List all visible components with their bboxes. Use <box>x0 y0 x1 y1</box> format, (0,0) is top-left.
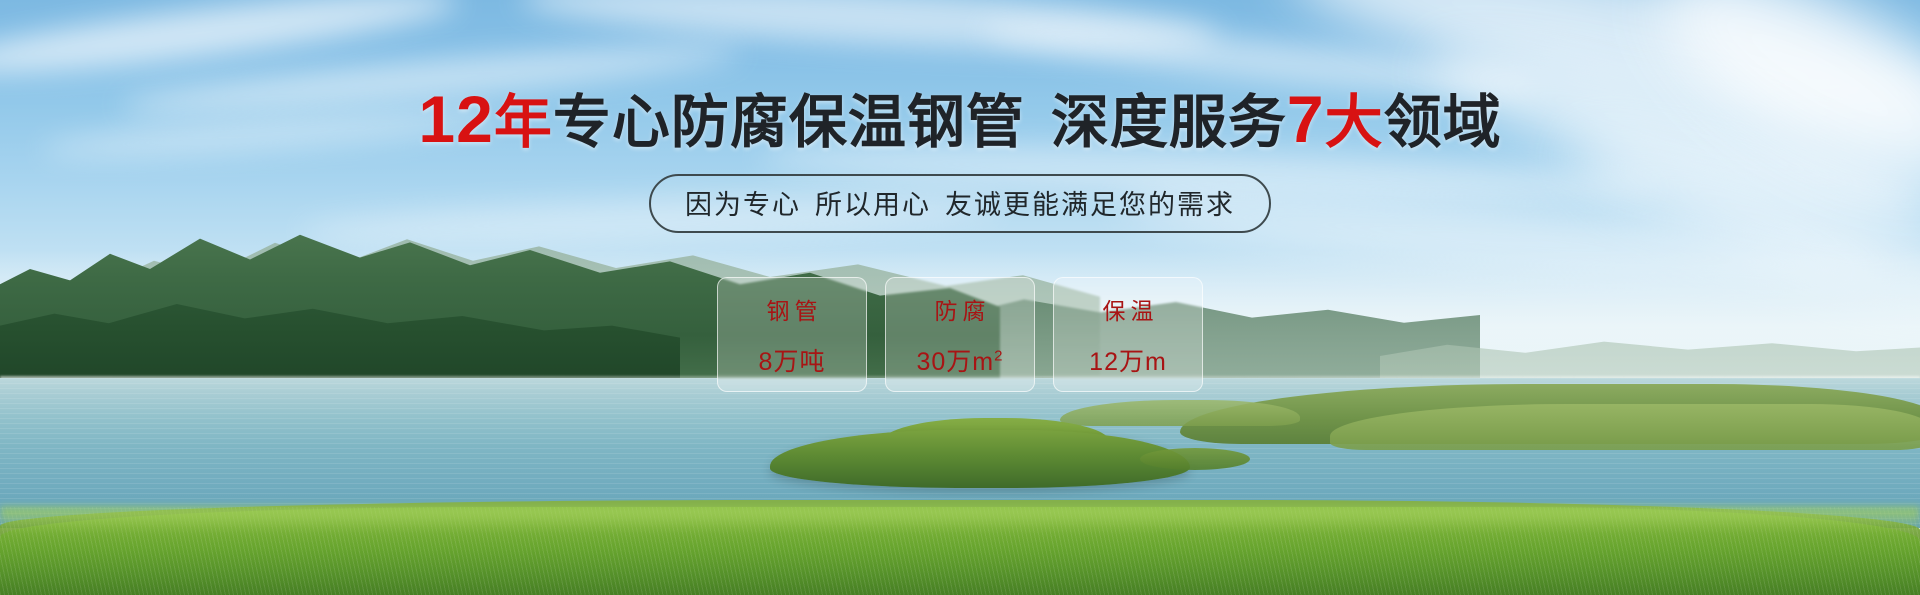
headline-years-number: 12 <box>418 82 493 156</box>
stat-value-text: 12万m <box>1089 348 1167 376</box>
stat-value-superscript: 2 <box>994 347 1003 364</box>
subtitle-segment-1: 因为专心 <box>685 190 801 220</box>
headline-service-text: 深度服务 <box>1051 90 1287 155</box>
subtitle-segment-2: 所以用心 <box>815 190 931 220</box>
stat-card-insulation: 保温 12万m <box>1053 277 1203 392</box>
banner-headline: 12年专心防腐保温钢管深度服务7大领域 <box>418 86 1501 152</box>
headline-fields-unit: 大 <box>1325 90 1384 155</box>
headline-fields-number: 7 <box>1287 82 1325 156</box>
stat-card-value: 12万m <box>1089 342 1167 378</box>
hero-banner: 12年专心防腐保温钢管深度服务7大领域 因为专心所以用心友诚更能满足您的需求 钢… <box>0 0 1920 595</box>
subtitle-pill: 因为专心所以用心友诚更能满足您的需求 <box>649 174 1271 233</box>
headline-years-unit: 年 <box>494 90 553 155</box>
stat-card-caption: 保温 <box>1098 292 1159 326</box>
stat-card-value: 30万m2 <box>917 342 1004 378</box>
stat-card-steel-pipe: 钢管 8万吨 <box>717 277 867 392</box>
banner-content: 12年专心防腐保温钢管深度服务7大领域 因为专心所以用心友诚更能满足您的需求 钢… <box>0 0 1920 595</box>
stat-card-value: 8万吨 <box>759 342 826 378</box>
headline-tail-text: 领域 <box>1384 90 1502 155</box>
stat-card-group: 钢管 8万吨 防腐 30万m2 保温 12万m <box>717 277 1203 392</box>
stat-card-caption: 防腐 <box>930 292 991 326</box>
banner-subtitle: 因为专心所以用心友诚更能满足您的需求 <box>685 183 1235 222</box>
stat-card-caption: 钢管 <box>762 292 823 326</box>
stat-value-text: 30万m <box>917 348 995 376</box>
subtitle-segment-3: 友诚更能满足您的需求 <box>945 190 1235 220</box>
headline-main-text: 专心防腐保温钢管 <box>553 90 1025 155</box>
stat-card-anticorrosion: 防腐 30万m2 <box>885 277 1035 392</box>
stat-value-text: 8万吨 <box>759 348 826 376</box>
